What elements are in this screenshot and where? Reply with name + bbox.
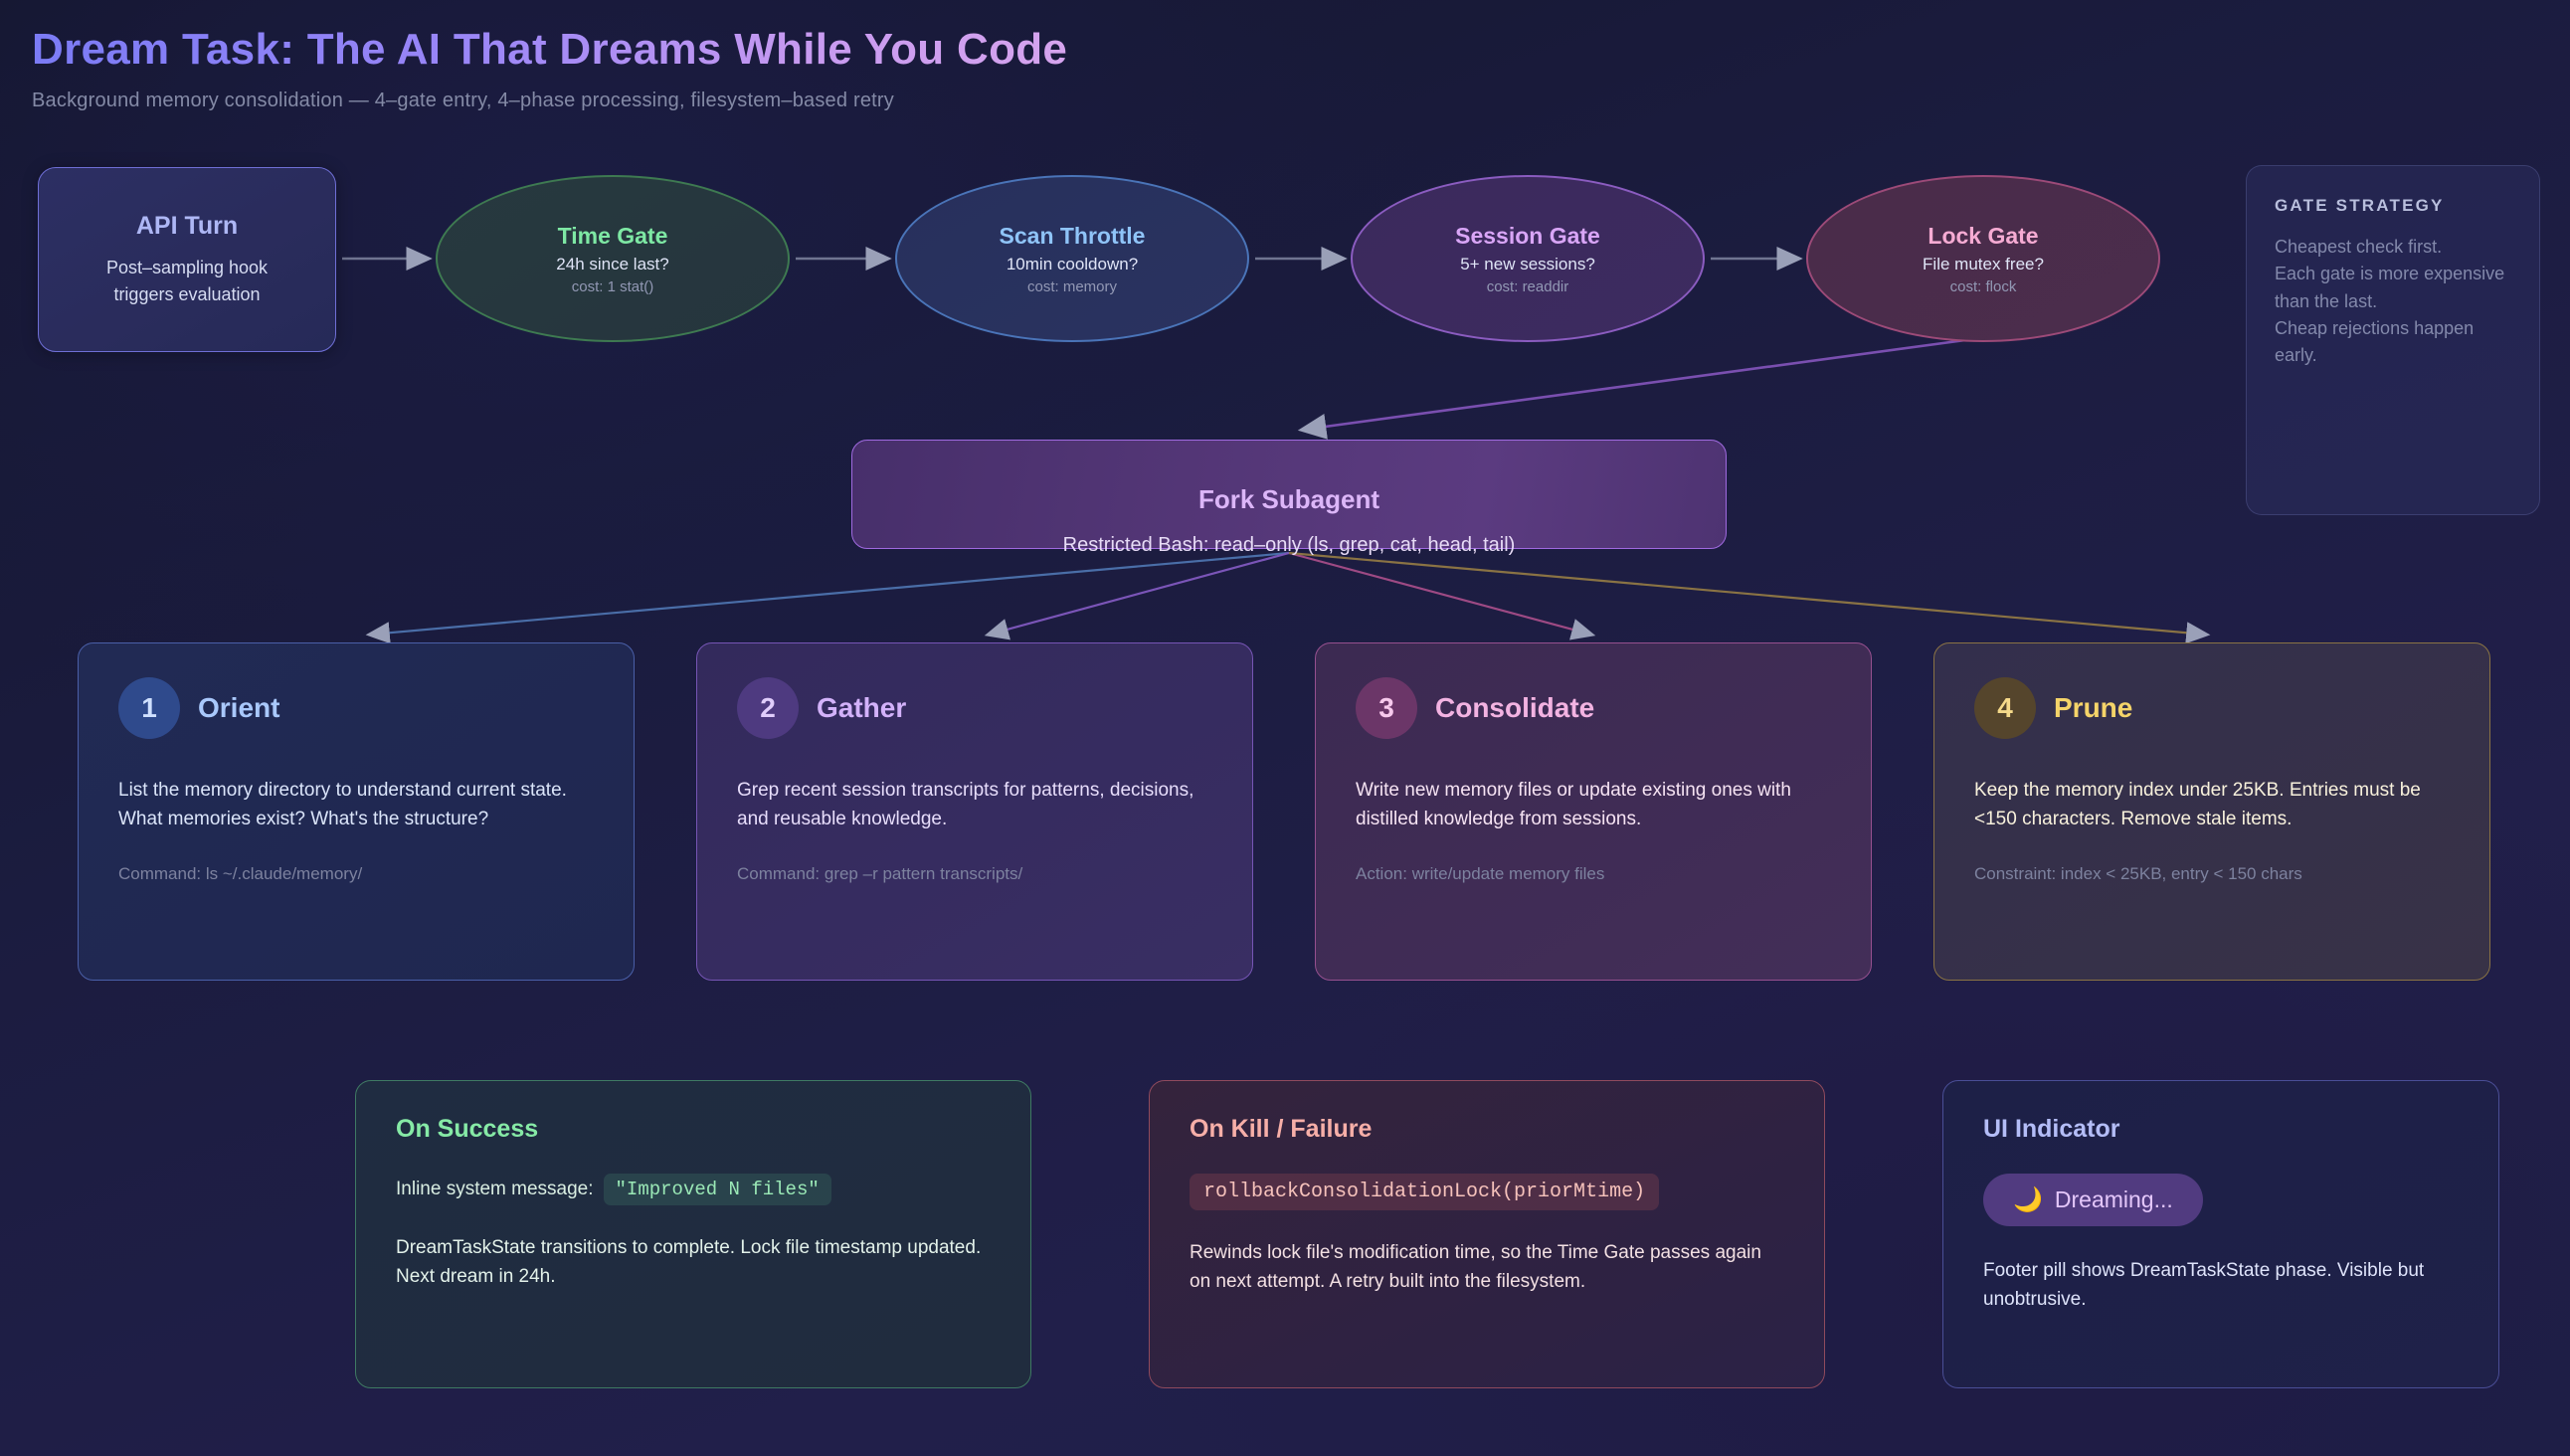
phase-number-badge: 3 (1356, 677, 1417, 739)
phase-description: List the memory directory to understand … (118, 777, 594, 834)
phase-number-badge: 4 (1974, 677, 2036, 739)
gate-time-cost: cost: 1 stat() (572, 278, 654, 295)
panel-on-success: On Success Inline system message: "Impro… (355, 1080, 1031, 1388)
ui-indicator-heading: UI Indicator (1983, 1115, 2459, 1144)
fork-subtitle: Restricted Bash: read–only (ls, grep, ca… (852, 534, 1726, 557)
dreaming-pill-label: Dreaming... (2055, 1186, 2173, 1213)
on-success-message-row: Inline system message: "Improved N files… (396, 1174, 991, 1205)
ui-indicator-body: Footer pill shows DreamTaskState phase. … (1983, 1256, 2459, 1315)
panel-ui-indicator: UI Indicator 🌙 Dreaming... Footer pill s… (1942, 1080, 2499, 1388)
phase-name: Prune (2054, 692, 2132, 724)
gate-strategy-line: Each gate is more expensive than the las… (2275, 261, 2511, 315)
gate-scan-question: 10min cooldown? (1007, 255, 1138, 274)
on-success-label: Inline system message: (396, 1179, 594, 1200)
panel-on-kill-failure: On Kill / Failure rollbackConsolidationL… (1149, 1080, 1825, 1388)
phase-description: Write new memory files or update existin… (1356, 777, 1831, 834)
on-kill-code: rollbackConsolidationLock(priorMtime) (1190, 1174, 1659, 1210)
gate-session[interactable]: Session Gate 5+ new sessions? cost: read… (1351, 175, 1705, 342)
page-subtitle: Background memory consolidation — 4–gate… (32, 90, 1067, 112)
gate-time[interactable]: Time Gate 24h since last? cost: 1 stat() (436, 175, 790, 342)
gate-scan-throttle[interactable]: Scan Throttle 10min cooldown? cost: memo… (895, 175, 1249, 342)
phase-card-gather[interactable]: 2 Gather Grep recent session transcripts… (696, 642, 1253, 981)
api-turn-subtitle: Post–sampling hook triggers evaluation (106, 255, 268, 308)
phase-card-orient[interactable]: 1 Orient List the memory directory to un… (78, 642, 635, 981)
phase-meta: Command: ls ~/.claude/memory/ (118, 864, 594, 884)
gate-scan-cost: cost: memory (1027, 278, 1117, 295)
gate-strategy-panel: GATE STRATEGY Cheapest check first. Each… (2246, 165, 2540, 515)
phase-name: Consolidate (1435, 692, 1594, 724)
gate-lock[interactable]: Lock Gate File mutex free? cost: flock (1806, 175, 2160, 342)
phase-card-consolidate[interactable]: 3 Consolidate Write new memory files or … (1315, 642, 1872, 981)
fork-title: Fork Subagent (852, 484, 1726, 515)
gate-time-title: Time Gate (558, 223, 668, 250)
phase-description: Keep the memory index under 25KB. Entrie… (1974, 777, 2450, 834)
phase-description: Grep recent session transcripts for patt… (737, 777, 1212, 834)
gate-strategy-heading: GATE STRATEGY (2275, 196, 2511, 216)
phase-name: Orient (198, 692, 279, 724)
wire-fork-to-phase-4 (1289, 553, 2206, 635)
api-turn-title: API Turn (136, 212, 238, 241)
node-fork-subagent[interactable]: Fork Subagent Restricted Bash: read–only… (851, 440, 1727, 549)
page-title: Dream Task: The AI That Dreams While You… (32, 24, 1067, 76)
api-turn-subtitle-line1: Post–sampling hook (106, 258, 268, 277)
gate-time-question: 24h since last? (556, 255, 668, 274)
wire-fork-to-phase-2 (989, 553, 1289, 635)
moon-icon: 🌙 (2013, 1188, 2043, 1212)
on-success-heading: On Success (396, 1115, 991, 1144)
gate-session-title: Session Gate (1455, 223, 1600, 250)
on-success-code: "Improved N files" (604, 1174, 831, 1205)
wire-fork-to-phase-1 (370, 553, 1289, 635)
dreaming-pill[interactable]: 🌙 Dreaming... (1983, 1174, 2203, 1226)
phase-name: Gather (817, 692, 906, 724)
node-api-turn[interactable]: API Turn Post–sampling hook triggers eva… (38, 167, 336, 352)
phase-number-badge: 2 (737, 677, 799, 739)
on-kill-heading: On Kill / Failure (1190, 1115, 1784, 1144)
page-header: Dream Task: The AI That Dreams While You… (32, 24, 1067, 112)
phase-card-header: 2 Gather (737, 677, 1212, 739)
gate-session-cost: cost: readdir (1487, 278, 1569, 295)
phase-card-header: 4 Prune (1974, 677, 2450, 739)
gate-strategy-line: Cheapest check first. (2275, 234, 2511, 261)
phase-card-header: 3 Consolidate (1356, 677, 1831, 739)
wire-lock-to-fork (1303, 340, 1965, 430)
gate-scan-title: Scan Throttle (1000, 223, 1146, 250)
api-turn-subtitle-line2: triggers evaluation (113, 284, 260, 304)
phase-card-header: 1 Orient (118, 677, 594, 739)
phase-number-badge: 1 (118, 677, 180, 739)
phase-card-prune[interactable]: 4 Prune Keep the memory index under 25KB… (1933, 642, 2490, 981)
phase-meta: Action: write/update memory files (1356, 864, 1831, 884)
gate-lock-cost: cost: flock (1950, 278, 2017, 295)
gate-strategy-line: Cheap rejections happen early. (2275, 315, 2511, 370)
on-success-body: DreamTaskState transitions to complete. … (396, 1233, 991, 1292)
gate-lock-question: File mutex free? (1923, 255, 2044, 274)
phase-meta: Command: grep –r pattern transcripts/ (737, 864, 1212, 884)
phase-meta: Constraint: index < 25KB, entry < 150 ch… (1974, 864, 2450, 884)
gate-session-question: 5+ new sessions? (1460, 255, 1595, 274)
on-kill-body: Rewinds lock file's modification time, s… (1190, 1238, 1784, 1297)
gate-lock-title: Lock Gate (1927, 223, 2038, 250)
wire-fork-to-phase-3 (1289, 553, 1591, 635)
